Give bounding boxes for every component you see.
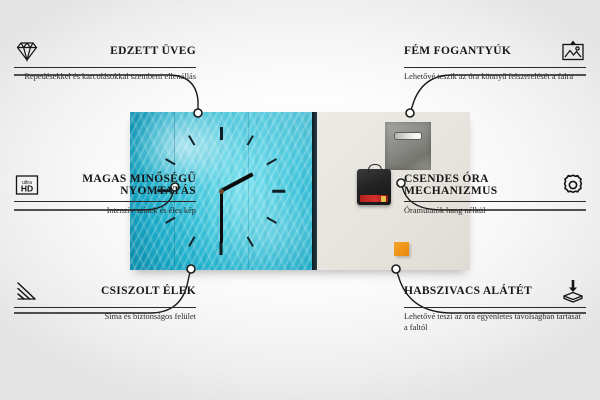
feature-rule [14,67,196,68]
battery-terminal [381,196,386,202]
foam-pad-part [394,242,409,256]
movement-hook [368,164,382,173]
feature-header: ultra HD MAGAS MINŐSÉGŰ NYOMTATÁS [14,172,196,198]
clock-movement-part [357,169,391,205]
clock-tick-4 [266,217,277,224]
clock-minute-hand [220,191,223,243]
polished-edges-icon [14,278,40,304]
feature-tempered-glass: EDZETT ÜVEG Repedésekkel és karcolásokka… [14,38,196,83]
feature-foam-pad: HABSZIVACS ALÁTÉT Lehetővé teszi az óra … [404,278,586,333]
battery [360,195,388,202]
infographic-canvas: EDZETT ÜVEG Repedésekkel és karcolásokka… [0,0,600,400]
clock-tick-6 [220,242,223,255]
feature-title: CSENDES ÓRA MECHANIZMUS [404,173,553,198]
clock-tick-3 [272,190,285,193]
feature-title: MAGAS MINŐSÉGŰ NYOMTATÁS [47,173,196,198]
clock-tick-11 [188,135,195,146]
feature-header: EDZETT ÜVEG [14,38,196,64]
picture-frame-hanger-icon [560,38,586,64]
feature-hd-print: ultra HD MAGAS MINŐSÉGŰ NYOMTATÁS Intenz… [14,172,196,217]
press-down-pad-icon [560,278,586,304]
clock-tick-1 [247,135,254,146]
feature-header: FÉM FOGANTYÚK [404,38,586,64]
feature-description: Sima és biztonságos felület [14,312,196,323]
feature-header: CSISZOLT ÉLEK [14,278,196,304]
ultra-hd-icon: ultra HD [14,172,40,198]
feature-header: CSENDES ÓRA MECHANIZMUS [404,172,586,198]
feature-rule [404,67,586,68]
feature-rule [404,201,586,202]
feature-description: Repedésekkel és karcolásokkal szembeni e… [14,72,196,83]
feature-description: Lehetővé teszik az óra könnyű felszerelé… [404,72,586,83]
feature-rule [404,307,586,308]
feature-title: CSISZOLT ÉLEK [47,285,196,298]
svg-text:HD: HD [21,184,33,194]
clock-tick-7 [188,236,195,247]
clock-tick-2 [266,158,277,165]
clock-hour-hand [220,172,254,192]
feature-rule [14,307,196,308]
feature-title: EDZETT ÜVEG [47,45,196,58]
clock-tick-12 [220,127,223,140]
feature-description: Lehetővé teszi az óra egyenletes távolsá… [404,312,586,333]
feature-quiet-movement: CSENDES ÓRA MECHANIZMUS Óramutatók hang … [404,172,586,217]
feature-title: FÉM FOGANTYÚK [404,45,553,58]
clock-tick-10 [165,158,176,165]
feature-polished-edges: CSISZOLT ÉLEK Sima és biztonságos felüle… [14,278,196,323]
clock-tick-5 [247,236,254,247]
feature-header: HABSZIVACS ALÁTÉT [404,278,586,304]
feature-metal-hangers: FÉM FOGANTYÚK Lehetővé teszik az óra kön… [404,38,586,83]
hanger-slot [394,132,422,140]
diamond-icon [14,38,40,64]
clock-center-cap [219,189,224,194]
feature-title: HABSZIVACS ALÁTÉT [404,285,553,298]
feature-description: Óramutatók hang nélkül [404,206,586,217]
feature-rule [14,201,196,202]
clock-tick-8 [165,217,176,224]
feature-description: Intenzív színek és éles kép [14,206,196,217]
metal-hanger-part [385,122,431,170]
gear-icon [560,172,586,198]
